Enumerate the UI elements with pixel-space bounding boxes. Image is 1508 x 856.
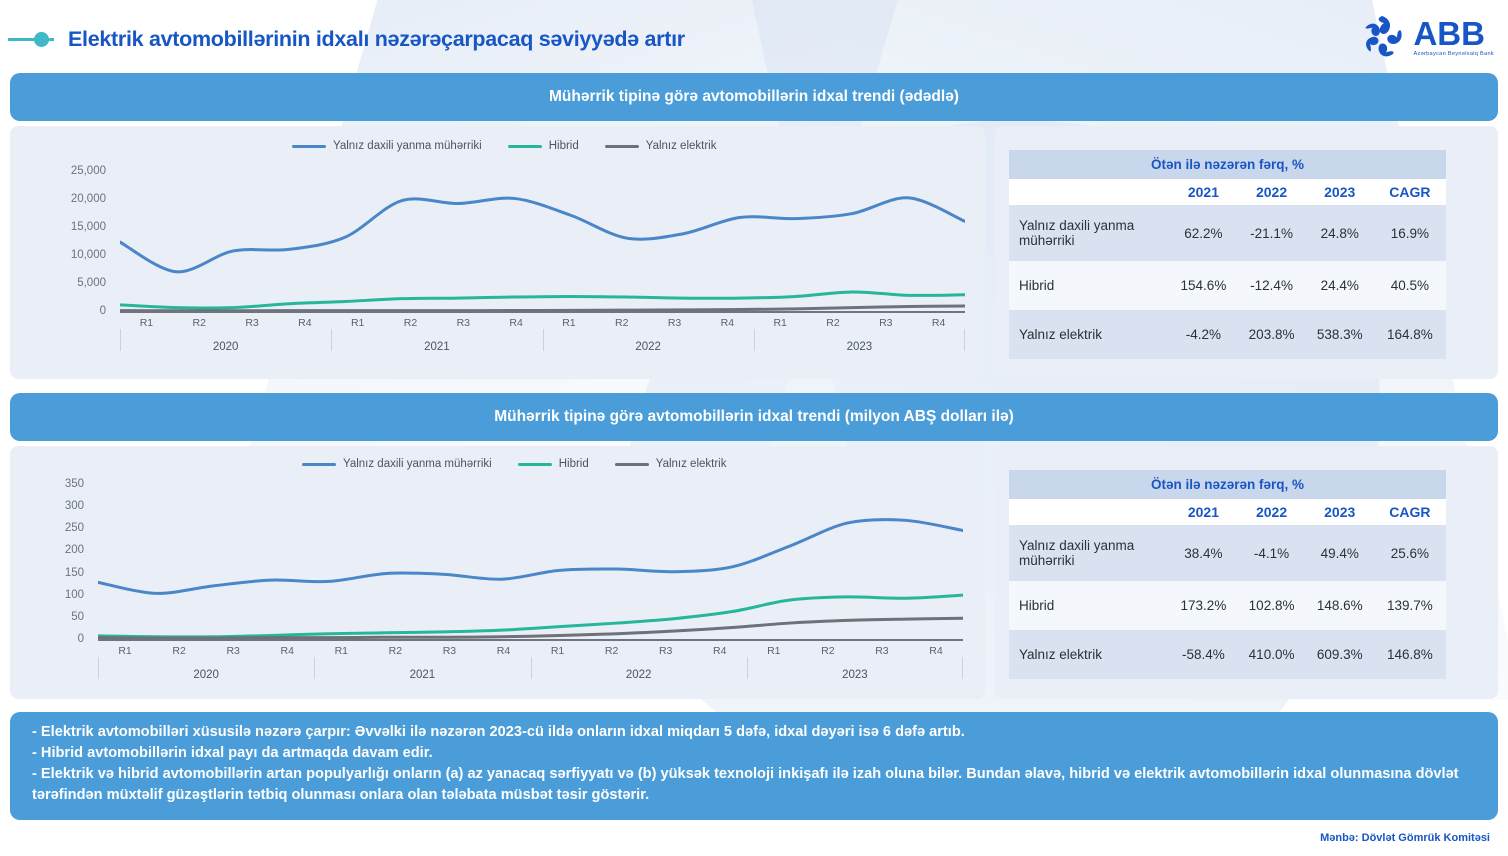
x-axis-ticks: R1R2R3R4R1R2R3R4R1R2R3R4R1R2R3R4 [120, 317, 965, 329]
chart-panel-2: Yalnız daxili yanma mühərrikiHibridYalnı… [10, 446, 985, 699]
y-axis-tick: 0 [100, 305, 106, 317]
plot-area [98, 484, 963, 639]
table-cell: 139.7% [1374, 581, 1446, 630]
diff-table-1: Ötən ilə nəzərən fərq, %202120222023CAGR… [1009, 150, 1446, 359]
logo-subtitle: Azərbaycan Beynəlxalq Bank [1413, 52, 1494, 58]
x-axis-tick: R2 [368, 645, 422, 657]
y-axis-tick: 250 [65, 522, 84, 534]
x-axis-tick: R1 [98, 645, 152, 657]
x-axis-tick: R4 [693, 645, 747, 657]
table-cell: -4.1% [1238, 525, 1306, 581]
x-axis-tick: R1 [331, 317, 384, 329]
table-panel-1: Ötən ilə nəzərən fərq, %202120222023CAGR… [995, 126, 1498, 379]
x-axis-tick: R3 [206, 645, 260, 657]
table-column-header: 2021 [1169, 179, 1237, 205]
x-axis-tick: R1 [543, 317, 596, 329]
x-axis-tick: R1 [120, 317, 173, 329]
section-bar-1: Mühərrik tipinə görə avtomobillərin idxa… [10, 73, 1498, 121]
x-axis-tick: R2 [585, 645, 639, 657]
y-axis-tick: 20,000 [71, 193, 106, 205]
table-column-header: 2023 [1306, 499, 1374, 525]
x-axis-tick: R1 [531, 645, 585, 657]
chart-panel-1: Yalnız daxili yanma mühərrikiHibridYalnı… [10, 126, 985, 379]
series-line-0 [120, 198, 965, 272]
x-axis-tick: R3 [648, 317, 701, 329]
page-title: Elektrik avtomobillərinin idxalı nəzərəç… [68, 27, 685, 52]
table-cell: 38.4% [1169, 525, 1237, 581]
x-axis-line [98, 639, 963, 641]
x-axis-tick: R1 [314, 645, 368, 657]
table-column-header: 2021 [1169, 499, 1237, 525]
table-row-label: Hibrid [1009, 581, 1169, 630]
x-axis-tick: R4 [260, 645, 314, 657]
x-axis-tick: R4 [278, 317, 331, 329]
x-axis-years: 2020202120222023 [120, 337, 965, 353]
x-axis-line [120, 311, 965, 313]
series-line-0 [98, 520, 963, 594]
y-axis-tick: 10,000 [71, 249, 106, 261]
y-axis-tick: 100 [65, 589, 84, 601]
table-row-label: Hibrid [1009, 261, 1169, 310]
y-axis-tick: 25,000 [71, 165, 106, 177]
table-cell: 146.8% [1374, 630, 1446, 679]
x-axis-tick: R2 [807, 317, 860, 329]
x-axis-tick: R3 [855, 645, 909, 657]
y-axis-tick: 350 [65, 478, 84, 490]
x-axis-year: 2023 [747, 665, 963, 681]
table-cell: -58.4% [1169, 630, 1237, 679]
x-axis-tick: R4 [912, 317, 965, 329]
table-cell: 173.2% [1169, 581, 1237, 630]
table-cell: 25.6% [1374, 525, 1446, 581]
y-axis-tick: 50 [71, 611, 84, 623]
chart-1: 05,00010,00015,00020,00025,000R1R2R3R4R1… [10, 126, 985, 379]
x-axis-tick: R4 [490, 317, 543, 329]
x-axis-tick: R2 [173, 317, 226, 329]
note-item: - Hibrid avtomobillərin idxal payı da ar… [32, 743, 1476, 764]
table-column-header: 2022 [1238, 179, 1306, 205]
table-row-label: Yalnız daxili yanma mühərriki [1009, 525, 1169, 581]
notes-box: - Elektrik avtomobilləri xüsusilə nəzərə… [10, 712, 1498, 820]
abb-logo-icon [1357, 12, 1407, 62]
table-title: Ötən ilə nəzərən fərq, % [1009, 470, 1446, 499]
table-cell: 49.4% [1306, 525, 1374, 581]
table-column-header: 2023 [1306, 179, 1374, 205]
title-accent-dot [34, 32, 49, 47]
diff-table-2: Ötən ilə nəzərən fərq, %202120222023CAGR… [1009, 470, 1446, 679]
table-cell: -4.2% [1169, 310, 1237, 359]
x-axis-tick: R3 [437, 317, 490, 329]
x-axis-years: 2020202120222023 [98, 665, 963, 681]
x-axis-year: 2022 [543, 337, 754, 353]
source-label: Mənbə: Dövlət Gömrük Komitəsi [1320, 832, 1490, 844]
slide-root: Elektrik avtomobillərinin idxalı nəzərəç… [0, 0, 1508, 856]
x-axis-year: 2021 [331, 337, 542, 353]
x-axis-tick: R2 [801, 645, 855, 657]
x-axis-tick: R3 [422, 645, 476, 657]
table-row: Yalnız daxili yanma mühərriki38.4%-4.1%4… [1009, 525, 1446, 581]
table-title: Ötən ilə nəzərən fərq, % [1009, 150, 1446, 179]
table-row: Yalnız daxili yanma mühərriki62.2%-21.1%… [1009, 205, 1446, 261]
table-cell: 154.6% [1169, 261, 1237, 310]
x-axis-year: 2022 [531, 665, 747, 681]
y-axis-tick: 15,000 [71, 221, 106, 233]
x-axis-year: 2021 [314, 665, 530, 681]
x-axis-tick: R3 [639, 645, 693, 657]
x-axis-tick: R3 [859, 317, 912, 329]
y-axis-tick: 150 [65, 567, 84, 579]
table-row-label: Yalnız daxili yanma mühərriki [1009, 205, 1169, 261]
x-axis-tick: R4 [701, 317, 754, 329]
x-axis-tick: R2 [384, 317, 437, 329]
table-cell: -12.4% [1238, 261, 1306, 310]
series-line-1 [98, 595, 963, 637]
table-row: Yalnız elektrik-4.2%203.8%538.3%164.8% [1009, 310, 1446, 359]
note-item: - Elektrik və hibrid avtomobillərin arta… [32, 764, 1476, 806]
table-cell: 62.2% [1169, 205, 1237, 261]
x-axis-tick: R2 [595, 317, 648, 329]
abb-logo: ABB Azərbaycan Beynəlxalq Bank [1357, 12, 1494, 62]
x-axis-tick: R1 [747, 645, 801, 657]
table-panel-2: Ötən ilə nəzərən fərq, %202120222023CAGR… [995, 446, 1498, 699]
table-cell: 203.8% [1238, 310, 1306, 359]
table-column-header [1009, 179, 1169, 205]
logo-wordmark: ABB [1413, 17, 1494, 50]
series-line-1 [120, 292, 965, 308]
x-axis-tick: R3 [226, 317, 279, 329]
table-cell: 102.8% [1238, 581, 1306, 630]
x-axis-tick: R4 [909, 645, 963, 657]
x-axis-ticks: R1R2R3R4R1R2R3R4R1R2R3R4R1R2R3R4 [98, 645, 963, 657]
x-axis-tick: R1 [754, 317, 807, 329]
x-axis-tick: R2 [152, 645, 206, 657]
table-cell: 538.3% [1306, 310, 1374, 359]
table-row-label: Yalnız elektrik [1009, 310, 1169, 359]
table-cell: 24.4% [1306, 261, 1374, 310]
y-axis-tick: 200 [65, 544, 84, 556]
table-cell: 16.9% [1374, 205, 1446, 261]
table-cell: 410.0% [1238, 630, 1306, 679]
table-cell: 148.6% [1306, 581, 1374, 630]
table-cell: 40.5% [1374, 261, 1446, 310]
table-cell: -21.1% [1238, 205, 1306, 261]
chart-2: 050100150200250300350R1R2R3R4R1R2R3R4R1R… [10, 446, 985, 699]
y-axis-labels: 05,00010,00015,00020,00025,000 [10, 126, 106, 379]
plot-area [120, 171, 965, 311]
section-bar-2: Mühərrik tipinə görə avtomobillərin idxa… [10, 393, 1498, 441]
table-row-label: Yalnız elektrik [1009, 630, 1169, 679]
table-column-header [1009, 499, 1169, 525]
y-axis-labels: 050100150200250300350 [10, 446, 84, 699]
section-title-1: Mühərrik tipinə görə avtomobillərin idxa… [549, 88, 959, 106]
table-cell: 164.8% [1374, 310, 1446, 359]
table-cell: 24.8% [1306, 205, 1374, 261]
table-column-header: CAGR [1374, 179, 1446, 205]
table-column-header: 2022 [1238, 499, 1306, 525]
y-axis-tick: 300 [65, 500, 84, 512]
x-axis-year: 2023 [754, 337, 965, 353]
x-axis-year: 2020 [120, 337, 331, 353]
y-axis-tick: 5,000 [77, 277, 106, 289]
y-axis-tick: 0 [78, 633, 84, 645]
table-row: Yalnız elektrik-58.4%410.0%609.3%146.8% [1009, 630, 1446, 679]
table-column-header: CAGR [1374, 499, 1446, 525]
table-row: Hibrid154.6%-12.4%24.4%40.5% [1009, 261, 1446, 310]
x-axis-year: 2020 [98, 665, 314, 681]
table-cell: 609.3% [1306, 630, 1374, 679]
table-row: Hibrid173.2%102.8%148.6%139.7% [1009, 581, 1446, 630]
x-axis-tick: R4 [476, 645, 530, 657]
note-item: - Elektrik avtomobilləri xüsusilə nəzərə… [32, 722, 1476, 743]
section-title-2: Mühərrik tipinə görə avtomobillərin idxa… [494, 408, 1014, 426]
